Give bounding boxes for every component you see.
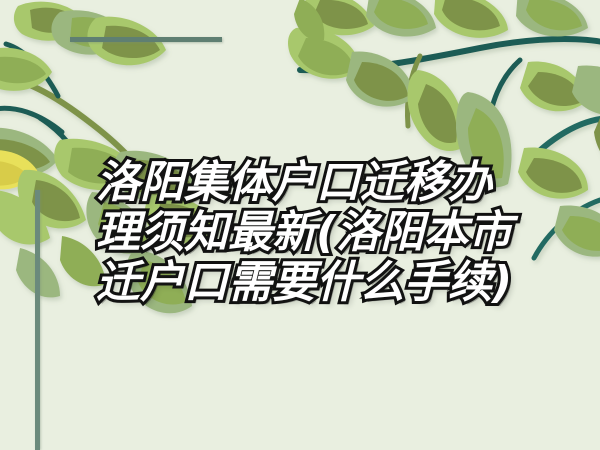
horizontal-accent-rule [70, 37, 222, 42]
poster-canvas: 洛阳集体户口迁移办 理须知最新(洛阳本市 迁户口需要什么手续) [0, 0, 600, 450]
title-line-1: 洛阳集体户口迁移办 [96, 158, 528, 208]
page-title: 洛阳集体户口迁移办 理须知最新(洛阳本市 迁户口需要什么手续) [96, 158, 528, 308]
vertical-accent-rule [35, 190, 40, 450]
title-line-2: 理须知最新(洛阳本市 [96, 208, 528, 258]
title-line-3: 迁户口需要什么手续) [96, 258, 528, 308]
